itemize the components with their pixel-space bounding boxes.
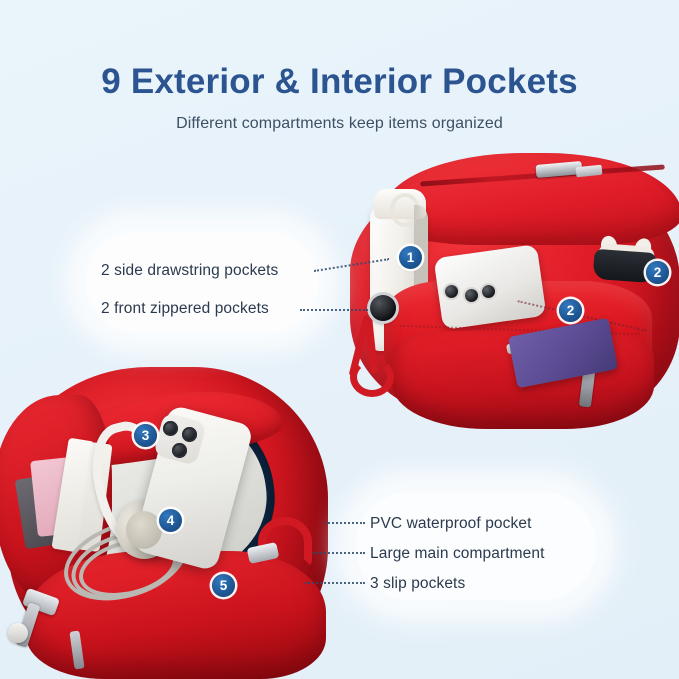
badge-marker-2-right: 2 bbox=[646, 261, 669, 284]
phone-camera-lens-icon bbox=[172, 443, 187, 458]
leader-line-large-main bbox=[313, 552, 365, 554]
infographic-canvas: 9 Exterior & Interior Pockets Different … bbox=[0, 0, 679, 679]
phone-camera-lens-icon bbox=[163, 421, 178, 436]
callout-slip-pockets: 3 slip pockets bbox=[370, 575, 465, 593]
leader-line-pvc-waterproof bbox=[325, 522, 365, 524]
badge-marker-3: 3 bbox=[134, 424, 157, 447]
leader-line-front-zippered bbox=[300, 309, 368, 311]
callout-pvc-waterproof-pocket: PVC waterproof pocket bbox=[370, 515, 531, 533]
callout-large-main-compartment: Large main compartment bbox=[370, 545, 545, 563]
drawstring-loop bbox=[350, 357, 394, 397]
headphones-earcup-inner bbox=[126, 511, 162, 549]
side-strap-button bbox=[8, 623, 28, 643]
header: 9 Exterior & Interior Pockets Different … bbox=[0, 0, 679, 133]
badge-marker-4: 4 bbox=[159, 509, 182, 532]
page-title: 9 Exterior & Interior Pockets bbox=[0, 0, 679, 102]
leader-line-slip-pockets bbox=[305, 582, 365, 584]
badge-marker-5: 5 bbox=[212, 574, 235, 597]
badge-marker-1: 1 bbox=[399, 246, 422, 269]
backpack-front-photo bbox=[330, 145, 679, 430]
callout-front-zippered-pockets: 2 front zippered pockets bbox=[101, 300, 269, 318]
badge-marker-2-lower: 2 bbox=[559, 299, 582, 322]
phone-camera-lens-icon bbox=[182, 427, 197, 442]
drawstring-toggle bbox=[370, 295, 396, 321]
page-subtitle: Different compartments keep items organi… bbox=[0, 102, 679, 133]
callout-side-drawstring-pockets: 2 side drawstring pockets bbox=[101, 262, 278, 280]
